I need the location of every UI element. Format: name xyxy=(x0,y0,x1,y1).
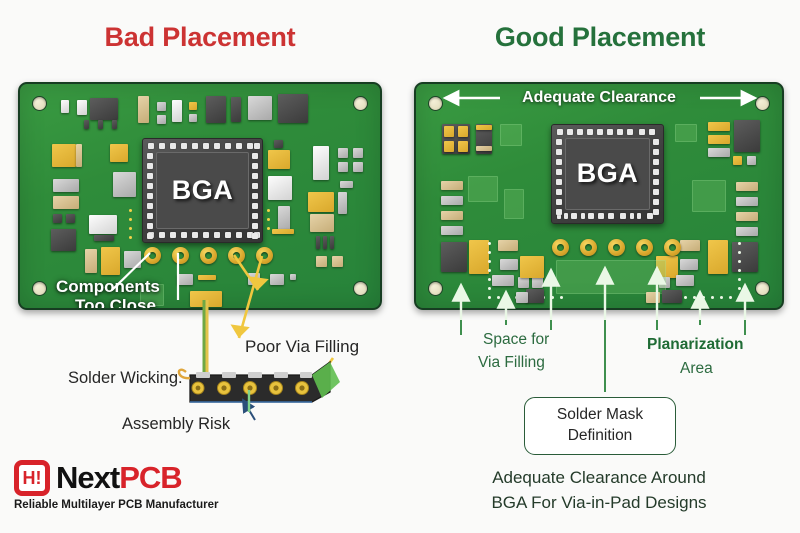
label-planarization-line1: Planarization xyxy=(647,336,743,354)
via-pad xyxy=(144,247,161,264)
via-pad xyxy=(228,247,245,264)
smd-component xyxy=(498,240,518,251)
smd-component xyxy=(734,120,760,152)
smd-component xyxy=(733,156,742,165)
smd-component xyxy=(662,290,682,303)
smd-component xyxy=(77,100,87,115)
smd-component xyxy=(676,275,694,286)
smd-component xyxy=(708,135,730,144)
smd-component xyxy=(441,181,463,190)
via-pad xyxy=(172,247,189,264)
smd-component xyxy=(646,292,660,303)
solder-mask-line1: Solder Mask xyxy=(541,405,659,426)
mounting-hole xyxy=(353,96,368,111)
smd-component xyxy=(248,273,260,285)
smd-component xyxy=(353,162,363,172)
smd-component xyxy=(198,275,216,280)
via-pad xyxy=(664,239,681,256)
smd-component xyxy=(112,120,117,129)
label-components-too-close-line1: Components xyxy=(56,277,160,297)
infographic-canvas: Bad Placement Good Placement xyxy=(0,0,800,533)
smd-component xyxy=(736,227,758,236)
smd-component xyxy=(500,259,518,270)
smd-component xyxy=(98,120,103,129)
smd-component xyxy=(66,214,75,223)
logo-tagline: Reliable Multilayer PCB Manufacturer xyxy=(14,499,254,511)
smd-component xyxy=(124,251,141,268)
via-cross-section xyxy=(179,362,340,402)
bga-chip: BGA xyxy=(142,138,263,243)
smd-component xyxy=(680,259,698,270)
smd-component xyxy=(101,247,120,275)
smd-component xyxy=(441,226,463,235)
label-planarization-line2: Area xyxy=(680,360,713,378)
logo-word-pcb: PCB xyxy=(119,460,181,495)
smd-component xyxy=(468,176,498,202)
smd-component xyxy=(518,277,529,288)
smd-component xyxy=(84,120,89,129)
smd-component xyxy=(53,179,79,192)
smd-component xyxy=(520,256,544,278)
smd-component xyxy=(310,214,334,232)
smd-component xyxy=(441,196,463,205)
smd-component xyxy=(231,97,241,122)
smd-component xyxy=(736,182,758,191)
smd-component xyxy=(113,172,136,197)
smd-component xyxy=(469,240,489,274)
smd-component xyxy=(308,192,334,212)
smd-component xyxy=(476,125,492,130)
smd-component xyxy=(526,289,544,303)
brand-logo[interactable]: H! NextPCB Reliable Multilayer PCB Manuf… xyxy=(14,460,254,511)
smd-component xyxy=(441,242,467,272)
ground-plane xyxy=(556,260,666,294)
mounting-hole xyxy=(755,281,770,296)
solder-mask-line2: Definition xyxy=(541,426,659,447)
bga-chip: BGA xyxy=(551,124,664,224)
page-title-good: Good Placement xyxy=(400,22,800,53)
mounting-hole xyxy=(428,281,443,296)
smd-component xyxy=(747,156,756,165)
smd-component xyxy=(516,292,528,303)
smd-component xyxy=(313,146,329,180)
mounting-hole xyxy=(32,96,47,111)
label-components-too-close-line2: Too Close xyxy=(75,296,156,310)
caption-line2: BGA For Via-in-Pad Designs xyxy=(414,491,784,516)
bga-label: BGA xyxy=(143,174,262,205)
smd-component xyxy=(189,114,197,122)
pcb-board-good: BGA xyxy=(414,82,784,310)
smd-component xyxy=(94,235,114,241)
via-pad xyxy=(608,239,625,256)
smd-component xyxy=(444,126,454,137)
smd-component xyxy=(692,180,726,212)
smd-component xyxy=(85,249,97,273)
smd-component xyxy=(189,102,197,110)
pcb-board-bad: BGA xyxy=(18,82,382,310)
smd-component xyxy=(110,144,128,162)
smd-component xyxy=(532,277,543,288)
smd-component xyxy=(708,240,728,274)
smd-component xyxy=(290,274,296,280)
smd-component xyxy=(248,96,272,120)
label-space-for-via-filling-line1: Space for xyxy=(483,331,549,349)
smd-component xyxy=(500,124,522,146)
smd-component xyxy=(268,176,292,200)
smd-component xyxy=(675,124,697,142)
page-title-bad: Bad Placement xyxy=(0,22,400,53)
label-space-for-via-filling-line2: Via Filling xyxy=(478,354,545,372)
smd-component xyxy=(270,274,284,285)
label-assembly-risk: Assembly Risk xyxy=(122,415,230,434)
solder-wicking-pins xyxy=(204,300,207,380)
via-pad xyxy=(636,239,653,256)
smd-component xyxy=(316,256,327,267)
smd-component xyxy=(441,211,463,220)
smd-component xyxy=(680,240,700,251)
label-adequate-clearance: Adequate Clearance xyxy=(414,89,784,107)
smd-component xyxy=(274,140,283,148)
leader-assembly-risk xyxy=(243,390,255,420)
smd-component xyxy=(736,197,758,206)
smd-component xyxy=(268,150,290,169)
smd-component xyxy=(177,274,193,285)
smd-component xyxy=(332,256,343,267)
smd-component xyxy=(278,206,290,231)
smd-component xyxy=(340,181,353,188)
caption-line1: Adequate Clearance Around xyxy=(414,466,784,491)
bga-label: BGA xyxy=(552,158,663,189)
smd-component xyxy=(206,96,226,123)
smd-component xyxy=(61,100,69,113)
smd-component xyxy=(732,242,758,272)
smd-component xyxy=(476,146,492,151)
smd-component xyxy=(708,122,730,131)
smd-component xyxy=(278,94,308,123)
logo-word-next: Next xyxy=(56,460,119,495)
smd-component xyxy=(338,148,348,158)
smd-component xyxy=(157,102,166,111)
via-pad xyxy=(200,247,217,264)
smd-component xyxy=(90,98,118,120)
smd-component xyxy=(76,144,82,167)
bottom-caption: Adequate Clearance Around BGA For Via-in… xyxy=(414,466,784,515)
smd-component xyxy=(353,148,363,158)
via-pad xyxy=(552,239,569,256)
smd-component xyxy=(53,196,79,209)
label-solder-wicking: Solder Wicking. xyxy=(68,369,183,388)
smd-component xyxy=(51,229,76,251)
label-solder-mask-definition: Solder Mask Definition xyxy=(524,397,676,455)
label-poor-via-filling: Poor Via Filling xyxy=(245,337,359,357)
via-pad xyxy=(580,239,597,256)
smd-component xyxy=(504,189,524,219)
smd-component xyxy=(708,148,730,157)
smd-component xyxy=(172,100,182,122)
smd-component xyxy=(458,141,468,152)
smd-component xyxy=(338,162,348,172)
smd-component xyxy=(52,144,76,167)
mounting-hole xyxy=(353,281,368,296)
smd-component xyxy=(89,215,117,234)
mounting-hole xyxy=(32,281,47,296)
smd-component xyxy=(138,96,149,123)
via-pad xyxy=(256,247,273,264)
smd-component xyxy=(330,236,334,249)
smd-component xyxy=(53,214,62,223)
smd-component xyxy=(444,141,454,152)
smd-component xyxy=(736,212,758,221)
smd-component xyxy=(316,236,320,249)
smd-component xyxy=(458,126,468,137)
smd-component xyxy=(272,229,294,234)
smd-component xyxy=(323,236,327,249)
smd-component xyxy=(190,291,222,307)
smd-component xyxy=(492,275,514,286)
smd-component xyxy=(338,192,347,214)
smd-component xyxy=(157,115,166,124)
nextpcb-mark-icon: H! xyxy=(14,460,50,496)
